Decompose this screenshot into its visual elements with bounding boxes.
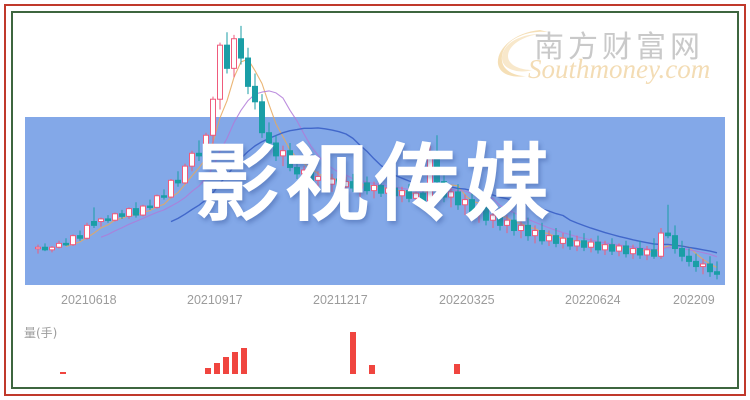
candlestick (568, 231, 573, 250)
candlestick (239, 26, 244, 65)
candlestick (715, 261, 720, 279)
candlestick (687, 249, 692, 267)
x-axis: 2021061820210917202112172022032520220624… (16, 288, 734, 322)
candlestick (652, 238, 657, 259)
volume-bar (350, 332, 356, 374)
candlestick (673, 225, 678, 253)
candlestick (232, 35, 237, 77)
chart-card: 影视传媒 南方财富网 Southmoney.com 20210618202109… (0, 0, 750, 400)
volume-series (16, 328, 734, 374)
candlestick (575, 236, 580, 251)
candlestick (659, 228, 664, 259)
candlestick (708, 256, 713, 277)
volume-bar (223, 357, 229, 374)
volume-bar (214, 363, 220, 374)
candlestick (701, 259, 706, 274)
volume-bar (60, 372, 66, 374)
candlestick (246, 48, 251, 94)
x-axis-tick: 20220624 (565, 293, 621, 307)
candlestick (561, 233, 566, 248)
candlestick (43, 243, 48, 251)
x-axis-tick: 202209 (673, 293, 715, 307)
candlestick (71, 234, 76, 246)
candlestick (50, 246, 55, 252)
candlestick (64, 238, 69, 246)
x-axis-tick: 20220325 (439, 293, 495, 307)
candlestick (624, 241, 629, 258)
candlestick (253, 73, 258, 109)
watermark-en-text: Southmoney.com (528, 54, 710, 85)
volume-bar (454, 364, 460, 374)
candlestick (694, 254, 699, 272)
volume-bar (205, 368, 211, 374)
candlestick (36, 245, 41, 254)
page-title: 影视传媒 (16, 142, 734, 226)
volume-bar (369, 365, 375, 374)
chart-canvas: 影视传媒 南方财富网 Southmoney.com 20210618202109… (16, 16, 734, 384)
candlestick (78, 231, 83, 241)
candlestick (610, 238, 615, 255)
x-axis-tick: 20210917 (187, 293, 243, 307)
candlestick (57, 241, 62, 249)
candlestick (596, 236, 601, 254)
candlestick (260, 94, 265, 138)
x-axis-tick: 20211217 (313, 293, 368, 307)
x-axis-tick: 20210618 (61, 293, 117, 307)
candlestick (680, 241, 685, 262)
candlestick (582, 233, 587, 251)
candlestick (638, 241, 643, 259)
volume-panel: 量(手) (16, 324, 734, 384)
volume-bar (241, 348, 247, 374)
candlestick (225, 32, 230, 73)
candlestick (218, 43, 223, 110)
volume-bar (232, 352, 238, 374)
watermark: 南方财富网 Southmoney.com (496, 20, 726, 94)
